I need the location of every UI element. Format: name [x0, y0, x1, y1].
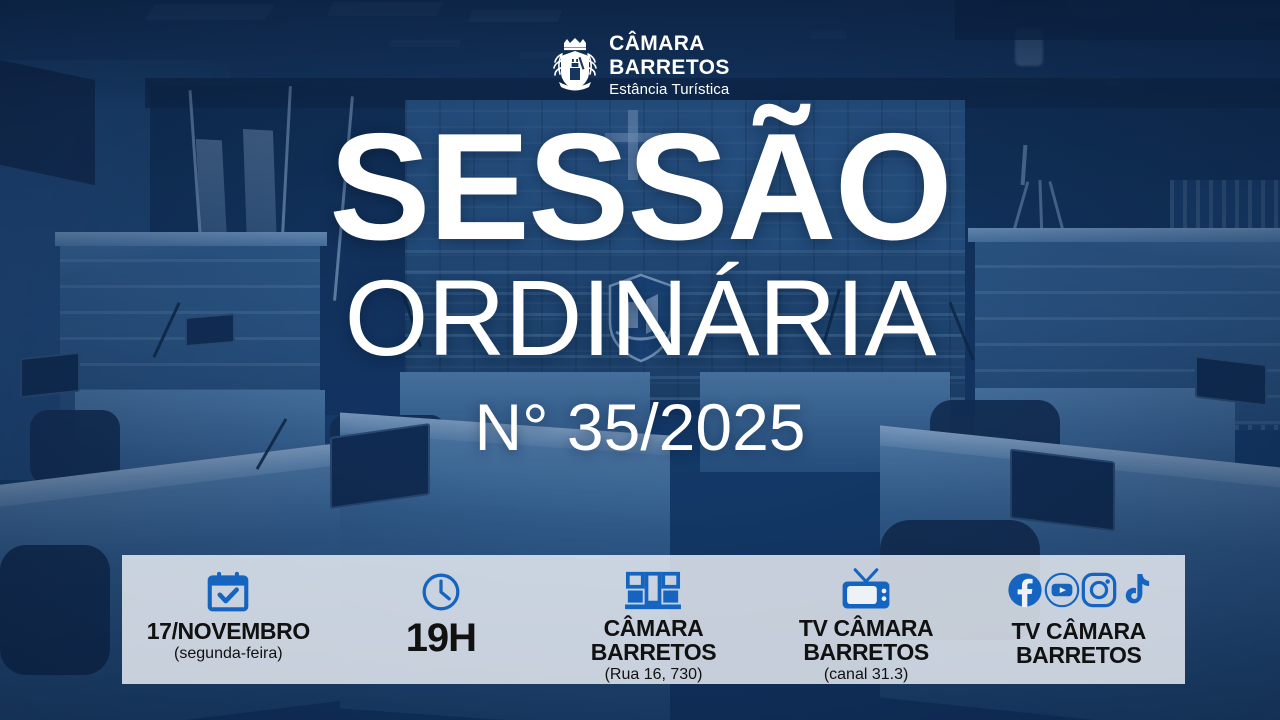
time-label: 19H: [406, 618, 476, 660]
venue-label-line2: BARRETOS: [591, 641, 716, 665]
weekday-label: (segunda-feira): [174, 645, 283, 663]
tiktok-icon[interactable]: [1118, 572, 1150, 613]
youtube-icon[interactable]: [1044, 572, 1080, 613]
logo-line-barretos: BARRETOS: [609, 57, 730, 78]
session-announcement-banner: CÂMARA BARRETOS Estância Turística SESSÃ…: [0, 0, 1280, 720]
tv-label-line2: BARRETOS: [803, 641, 928, 665]
instagram-icon[interactable]: [1081, 572, 1117, 613]
facebook-icon[interactable]: [1007, 572, 1043, 613]
info-cell-date: 17/NOVEMBRO (segunda-feira): [122, 555, 335, 684]
tv-channel: (canal 31.3): [824, 666, 909, 684]
info-cell-time: 19H: [335, 555, 548, 684]
building-icon: [625, 568, 681, 613]
tv-label-line1: TV CÂMARA: [799, 617, 933, 641]
calendar-check-icon: [206, 568, 250, 616]
date-label: 17/NOVEMBRO: [147, 620, 310, 644]
venue-address: (Rua 16, 730): [605, 666, 703, 684]
logo-line-camara: CÂMARA: [609, 33, 730, 54]
social-icon-row: [1007, 568, 1150, 616]
info-cell-social: TV CÂMARA BARRETOS: [972, 555, 1185, 684]
television-icon: [839, 568, 893, 613]
chamber-logo-text: CÂMARA BARRETOS Estância Turística: [609, 33, 730, 97]
title-line-sessao: SESSÃO: [0, 118, 1280, 258]
info-cell-tv: TV CÂMARA BARRETOS (canal 31.3): [760, 555, 973, 684]
coat-of-arms-icon: [550, 36, 600, 94]
social-label-line1: TV CÂMARA: [1011, 620, 1145, 644]
info-cell-venue: CÂMARA BARRETOS (Rua 16, 730): [547, 555, 760, 684]
event-info-bar: 17/NOVEMBRO (segunda-feira) 19H: [122, 555, 1185, 684]
social-label-line2: BARRETOS: [1016, 644, 1141, 668]
chamber-logo: CÂMARA BARRETOS Estância Turística: [0, 33, 1280, 97]
main-title-block: SESSÃO ORDINÁRIA N° 35/2025: [0, 118, 1280, 460]
logo-tagline: Estância Turística: [609, 82, 730, 97]
clock-icon: [421, 568, 461, 616]
venue-label-line1: CÂMARA: [604, 617, 704, 641]
session-number: N° 35/2025: [0, 394, 1280, 460]
title-line-ordinaria: ORDINÁRIA: [0, 264, 1280, 372]
